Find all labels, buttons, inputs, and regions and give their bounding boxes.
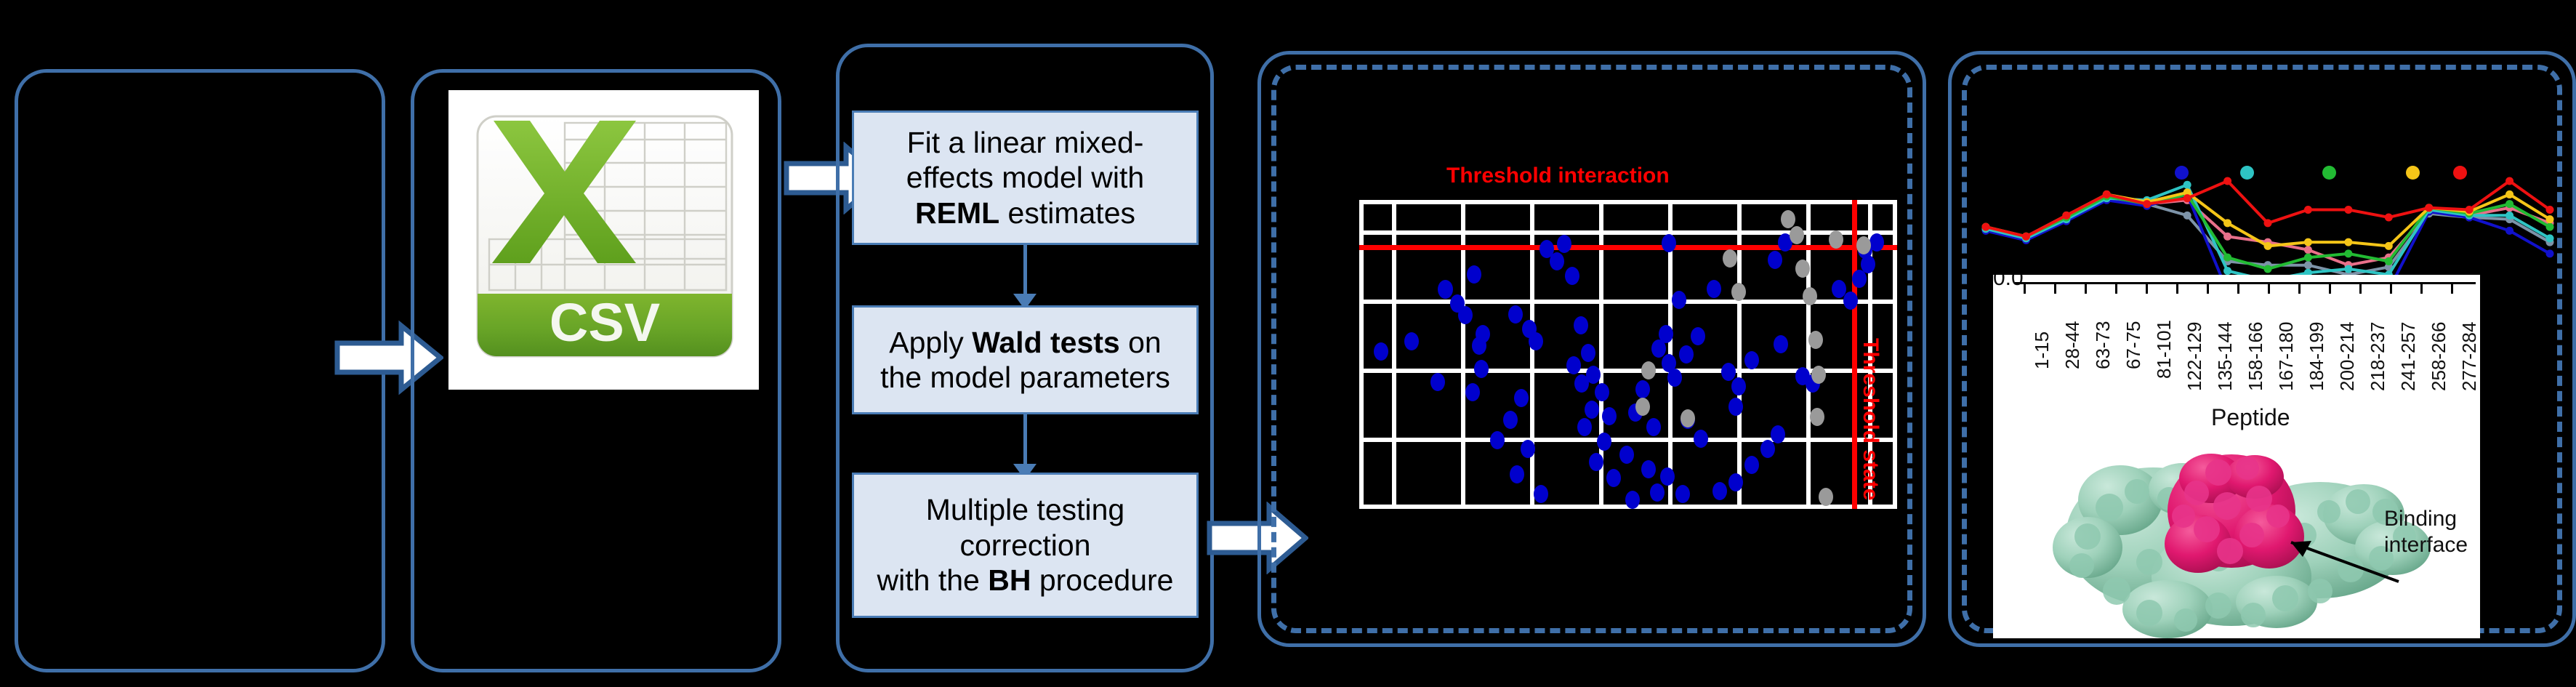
x-tick-label: 241-257 bbox=[2397, 322, 2420, 391]
series-marker bbox=[2385, 242, 2393, 250]
legend-dot-yellow bbox=[2406, 166, 2420, 180]
threshold-interaction-label: Threshold interaction bbox=[1446, 164, 1670, 188]
binding-interface-line1: Binding bbox=[2384, 507, 2457, 531]
series-marker bbox=[2505, 212, 2513, 220]
series-marker bbox=[2505, 227, 2513, 235]
series-marker bbox=[2264, 265, 2272, 273]
x-axis-tick bbox=[2298, 284, 2301, 294]
series-marker bbox=[2505, 200, 2513, 208]
volcano-scatter-plot bbox=[1359, 200, 1897, 509]
x-axis-tick bbox=[2451, 284, 2453, 294]
series-marker bbox=[2223, 254, 2231, 262]
x-tick-label: 28-44 bbox=[2061, 321, 2084, 370]
structure-figure-card: 0.0 1-15 28-44 63-73 67-75 81-101 122-12… bbox=[1993, 275, 2480, 638]
x-axis-tick bbox=[2268, 284, 2270, 294]
legend-dot-cyan bbox=[2240, 166, 2254, 180]
series-marker bbox=[2546, 234, 2554, 242]
series-marker bbox=[2425, 204, 2433, 212]
series-marker bbox=[2062, 212, 2070, 220]
x-axis-tick bbox=[2146, 284, 2148, 294]
wald-tests-box: Apply Wald tests on the model parameters bbox=[852, 305, 1199, 414]
series-marker bbox=[2223, 233, 2231, 241]
x-tick-label: 218-237 bbox=[2367, 322, 2389, 391]
x-tick-label: 135-144 bbox=[2214, 322, 2237, 391]
series-marker bbox=[2304, 254, 2312, 262]
series-marker bbox=[2304, 238, 2312, 246]
x-axis-tick bbox=[2237, 284, 2239, 294]
x-axis-tick bbox=[2054, 284, 2056, 294]
x-tick-label: 184-199 bbox=[2306, 322, 2328, 391]
multiple-testing-box: Multiple testing correction with the BH … bbox=[852, 473, 1199, 618]
series-marker bbox=[2183, 181, 2191, 189]
series-marker bbox=[2385, 257, 2393, 265]
x-tick-label: 1-15 bbox=[2031, 332, 2053, 369]
x-axis-tick bbox=[2329, 284, 2331, 294]
series-marker bbox=[2264, 219, 2272, 227]
protein-structure-image bbox=[2000, 420, 2451, 638]
fit-model-box: Fit a linear mixed- effects model with R… bbox=[852, 111, 1199, 245]
series-marker bbox=[2223, 219, 2231, 227]
series-marker bbox=[2183, 212, 2191, 220]
series-marker bbox=[2505, 190, 2513, 198]
series-line bbox=[1986, 181, 2550, 236]
x-axis-tick bbox=[2085, 284, 2087, 294]
x-axis-tick bbox=[2359, 284, 2362, 294]
x-axis-tick bbox=[2420, 284, 2423, 294]
x-axis-tick bbox=[2207, 284, 2209, 294]
series-marker bbox=[2546, 223, 2554, 231]
series-marker bbox=[2344, 238, 2352, 246]
panel-input bbox=[15, 69, 385, 672]
series-marker bbox=[2344, 249, 2352, 257]
binding-interface-line2: interface bbox=[2384, 533, 2468, 557]
x-tick-label: 122-129 bbox=[2183, 322, 2206, 391]
x-tick-label: 277-284 bbox=[2458, 322, 2480, 391]
series-marker bbox=[1982, 223, 1990, 231]
series-line bbox=[1986, 194, 2550, 269]
threshold-state-label: Threshold state bbox=[1858, 338, 1883, 500]
series-marker bbox=[2505, 177, 2513, 185]
wald-tests-box-text: Apply Wald tests on the model parameters bbox=[880, 325, 1170, 395]
x-tick-label: 67-75 bbox=[2122, 321, 2145, 370]
x-axis-tick bbox=[2176, 284, 2178, 294]
x-axis-tick bbox=[2390, 284, 2392, 294]
x-tick-label: 81-101 bbox=[2153, 320, 2175, 379]
series-marker bbox=[2304, 261, 2312, 269]
series-marker bbox=[2546, 206, 2554, 214]
threshold-interaction-line bbox=[1359, 245, 1897, 250]
fit-model-box-text: Fit a linear mixed- effects model with R… bbox=[906, 125, 1144, 230]
series-marker bbox=[2183, 194, 2191, 202]
x-tick-label: 258-266 bbox=[2428, 322, 2450, 391]
series-marker bbox=[2304, 246, 2312, 254]
series-marker bbox=[2022, 233, 2030, 241]
series-marker bbox=[2223, 177, 2231, 185]
series-marker bbox=[2385, 213, 2393, 221]
series-marker bbox=[2546, 215, 2554, 223]
series-marker bbox=[2103, 190, 2111, 198]
x-tick-label: 158-166 bbox=[2245, 322, 2267, 391]
series-marker bbox=[2344, 206, 2352, 214]
x-tick-label: 63-73 bbox=[2092, 321, 2114, 370]
series-marker bbox=[2264, 242, 2272, 250]
series-marker bbox=[2143, 200, 2151, 208]
legend-dot-red bbox=[2453, 166, 2467, 180]
series-marker bbox=[2466, 206, 2474, 214]
x-tick-label: 200-214 bbox=[2336, 322, 2359, 391]
series-marker bbox=[2344, 265, 2352, 273]
x-axis-tick bbox=[2115, 284, 2117, 294]
binding-interface-label: Binding interface bbox=[2384, 506, 2468, 558]
series-marker bbox=[2304, 206, 2312, 214]
csv-format-label: CSV bbox=[550, 292, 660, 353]
legend-dot-blue bbox=[2175, 166, 2189, 180]
series-marker bbox=[2223, 267, 2231, 275]
x-tick-label: 167-180 bbox=[2275, 322, 2298, 391]
x-axis-tick bbox=[2024, 284, 2026, 294]
csv-file-icon: CSV bbox=[448, 90, 759, 390]
multiple-testing-box-text: Multiple testing correction with the BH … bbox=[877, 492, 1174, 598]
legend-dot-green bbox=[2322, 166, 2336, 180]
series-marker bbox=[2546, 249, 2554, 257]
workflow-diagram: CSV Fit a linear mixed- effects model wi… bbox=[0, 0, 2576, 687]
